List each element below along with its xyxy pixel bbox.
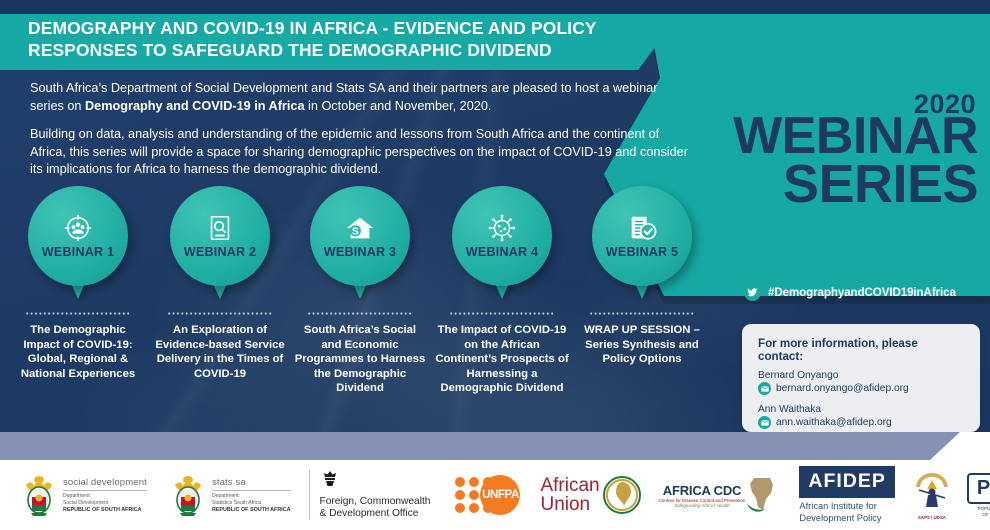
stats-sa-l3: REPUBLIC OF SOUTH AFRICA: [212, 507, 291, 513]
webinar-item-3[interactable]: S WEBINAR 3 South Africa’s Social and Ec…: [290, 186, 430, 396]
saps-emblem-icon: [911, 470, 953, 510]
fcdo-block: Foreign, Commonwealth & Development Offi…: [320, 470, 431, 521]
fcdo-text: Foreign, Commonwealth & Development Offi…: [320, 496, 431, 521]
afidep-name: AFIDEP: [799, 466, 895, 498]
african-union-emblem-icon: [603, 476, 641, 514]
logo-african-union: African Union: [540, 476, 640, 514]
webinar-label-3: WEBINAR 3: [324, 245, 396, 259]
stats-sa-l2: Statistics South Africa: [212, 500, 291, 507]
afidep-l2: Development Policy: [799, 513, 895, 525]
sa-coat-of-arms-icon: [169, 473, 207, 517]
logo-pasa: PASA POPULATION ASSOCIATION OF SOUTHERN …: [967, 473, 990, 517]
webinar-label-5: WEBINAR 5: [606, 245, 678, 259]
envelope-icon: [758, 382, 771, 395]
dot-divider-2: [167, 312, 273, 315]
africa-cdc-tagline: Safeguarding Africa’s Health: [659, 503, 746, 508]
envelope-icon: [758, 416, 771, 429]
series-wordmark: SERIES: [0, 159, 978, 210]
social-development-l1: Department:: [63, 493, 147, 500]
africa-cdc-main: AFRICA CDC: [659, 483, 746, 498]
royal-crest-icon: [320, 470, 340, 487]
logo-fcdo: Foreign, Commonwealth & Development Offi…: [309, 470, 431, 521]
webinar-label-2: WEBINAR 2: [184, 245, 256, 259]
dot-divider-3: [307, 312, 413, 315]
social-development-title: social development: [63, 477, 147, 488]
contact-email-row-1[interactable]: bernard.onyango@afidep.org: [758, 382, 964, 395]
dot-divider-4: [449, 312, 555, 315]
fcdo-l2: & Development Office: [320, 508, 431, 520]
document-magnifier-icon: [205, 213, 235, 243]
contact-card: For more information, please contact: Be…: [742, 324, 980, 432]
contact-name-1: Bernard Onyango: [758, 370, 964, 381]
stats-sa-rule: [212, 490, 291, 491]
fcdo-l1: Foreign, Commonwealth: [320, 496, 431, 508]
hashtag-text: #DemographyandCOVID19inAfrica: [768, 286, 956, 299]
contact-email-row-2[interactable]: ann.waithaka@afidep.org: [758, 416, 964, 429]
webinar-desc-4: The Impact of COVID-19 on the African Co…: [432, 323, 572, 396]
webinar-item-5[interactable]: WEBINAR 5 WRAP UP SESSION – Series Synth…: [572, 186, 712, 367]
webinar-desc-5: WRAP UP SESSION – Series Synthesis and P…: [572, 323, 712, 367]
social-development-rule: [63, 490, 147, 491]
unfpa-name: UNFPA: [480, 475, 520, 515]
virus-icon: [487, 213, 517, 243]
saps-name: SAPS / UDSA: [911, 515, 953, 520]
logo-stats-sa: stats sa Department: Statistics South Af…: [169, 473, 291, 517]
social-development-text: social development Department: Social De…: [63, 477, 147, 513]
social-development-l2: Social Development: [63, 500, 147, 507]
stats-sa-l1: Department:: [212, 493, 291, 500]
house-money-icon: S: [345, 213, 375, 243]
contact-email-2[interactable]: ann.waithaka@afidep.org: [776, 417, 892, 428]
people-target-icon: [63, 213, 93, 243]
pasa-l2: OF SOUTHERN AFRICA: [967, 512, 990, 518]
twitter-bird-icon: [744, 284, 761, 301]
webinar-label-1: WEBINAR 1: [42, 245, 114, 259]
africa-cdc-text: AFRICA CDC Centres for Disease Control a…: [659, 483, 746, 508]
webinar-item-4[interactable]: WEBINAR 4 The Impact of COVID-19 on the …: [432, 186, 572, 396]
top-strip: [0, 0, 990, 14]
webinar-label-4: WEBINAR 4: [466, 245, 538, 259]
webinar-item-1[interactable]: WEBINAR 1 The Demographic Impact of COVI…: [8, 186, 148, 381]
hashtag-row[interactable]: #DemographyandCOVID19inAfrica: [744, 284, 956, 301]
afidep-block: AFIDEP African Institute for Development…: [799, 466, 895, 524]
african-union-l1: African: [540, 476, 599, 495]
logo-africa-cdc: AFRICA CDC Centres for Disease Control a…: [659, 475, 784, 515]
webinar-desc-1: The Demographic Impact of COVID-19: Glob…: [8, 323, 148, 381]
contact-name-2: Ann Waithaka: [758, 404, 964, 415]
pasa-subtitle: POPULATION ASSOCIATION OF SOUTHERN AFRIC…: [967, 506, 990, 517]
pasa-name: PASA: [967, 473, 990, 504]
webinar-desc-2: An Exploration of Evidence-based Service…: [150, 323, 290, 381]
page-title: DEMOGRAPHY AND COVID-19 IN AFRICA - EVID…: [28, 17, 668, 61]
logo-social-development: social development Department: Social De…: [20, 473, 147, 517]
checklist-check-icon: [627, 213, 657, 243]
svg-text:S: S: [352, 227, 359, 238]
afidep-l1: African Institute for: [799, 501, 895, 513]
webinar-list: WEBINAR 1 The Demographic Impact of COVI…: [0, 186, 740, 426]
african-union-l2: Union: [540, 495, 599, 514]
afidep-subtitle: African Institute for Development Policy: [799, 501, 895, 524]
africa-map-icon: [741, 475, 783, 515]
logo-afidep: AFIDEP African Institute for Development…: [799, 466, 895, 524]
logo-unfpa: UNFPA: [454, 475, 520, 515]
contact-email-1[interactable]: bernard.onyango@afidep.org: [776, 383, 909, 394]
logo-saps: SAPS / UDSA: [911, 470, 953, 520]
footer-separator-band: [0, 432, 990, 460]
webinar-item-2[interactable]: WEBINAR 2 An Exploration of Evidence-bas…: [150, 186, 290, 381]
poster-root: DEMOGRAPHY AND COVID-19 IN AFRICA - EVID…: [0, 0, 990, 530]
stats-sa-text: stats sa Department: Statistics South Af…: [212, 477, 291, 513]
africa-cdc-sub: Centres for Disease Control and Preventi…: [659, 498, 746, 503]
webinar-desc-3: South Africa’s Social and Economic Progr…: [290, 323, 430, 396]
contact-heading: For more information, please contact:: [758, 337, 964, 363]
partner-logos-footer: social development Department: Social De…: [0, 460, 990, 530]
african-union-text: African Union: [540, 476, 599, 514]
dot-divider-5: [589, 312, 695, 315]
stats-sa-title: stats sa: [212, 477, 291, 488]
dot-divider-1: [25, 312, 131, 315]
social-development-l3: REPUBLIC OF SOUTH AFRICA: [63, 507, 142, 513]
sa-coat-of-arms-icon: [20, 473, 58, 517]
